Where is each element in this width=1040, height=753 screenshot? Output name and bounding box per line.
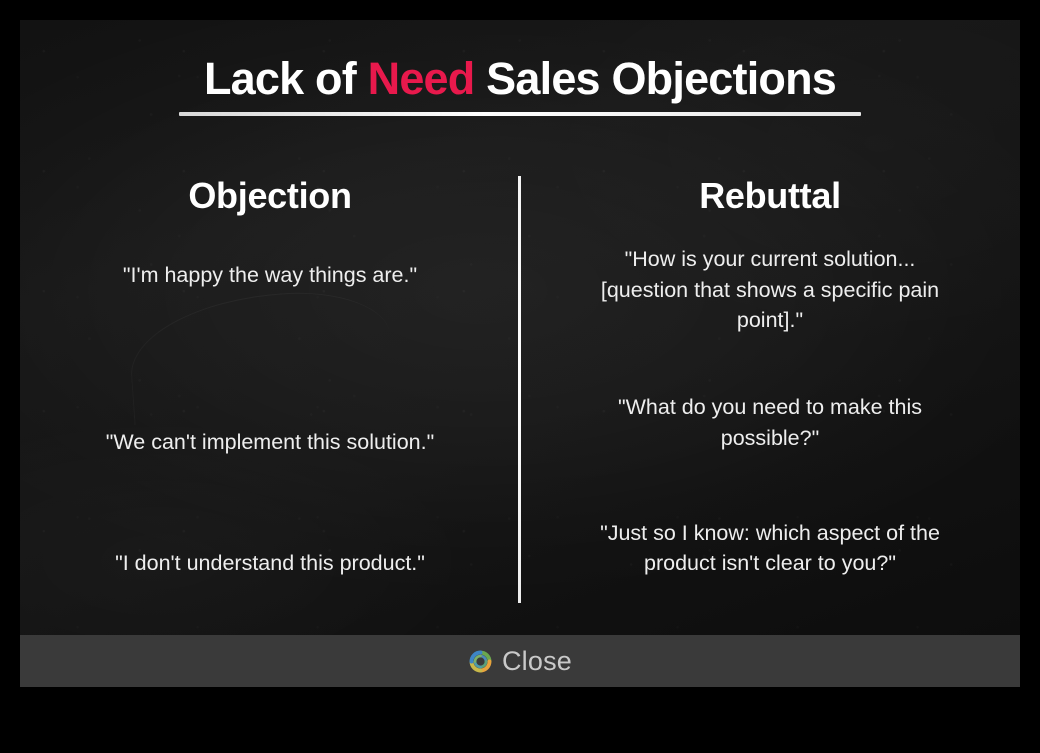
rebuttal-column: Rebuttal "How is your current solution..… bbox=[520, 160, 1020, 630]
close-button[interactable]: Close bbox=[468, 648, 572, 675]
table-row: "I'm happy the way things are." bbox=[20, 232, 520, 381]
title-text-accent: Need bbox=[368, 53, 475, 104]
title-text-before: Lack of bbox=[204, 53, 368, 104]
table-row: "I don't understand this product." bbox=[20, 503, 520, 630]
table-row: "We can't implement this solution." bbox=[20, 381, 520, 502]
app-logo-icon bbox=[468, 649, 493, 674]
table-row: "What do you need to make this possible?… bbox=[520, 363, 1020, 488]
title-block: Lack of Need Sales Objections bbox=[20, 54, 1020, 116]
rebuttal-cells: "How is your current solution... [questi… bbox=[520, 232, 1020, 630]
objection-column: Objection "I'm happy the way things are.… bbox=[20, 160, 520, 630]
objection-cells: "I'm happy the way things are." "We can'… bbox=[20, 232, 520, 630]
page-title: Lack of Need Sales Objections bbox=[20, 54, 1020, 104]
table-row: "Just so I know: which aspect of the pro… bbox=[520, 489, 1020, 630]
column-header-rebuttal: Rebuttal bbox=[520, 160, 1020, 232]
table-row: "How is your current solution... [questi… bbox=[520, 232, 1020, 363]
column-header-objection: Objection bbox=[20, 160, 520, 232]
viewer-toolbar: Close bbox=[20, 635, 1020, 687]
objection-rebuttal-table: Objection "I'm happy the way things are.… bbox=[20, 160, 1020, 630]
slide-canvas: Lack of Need Sales Objections Objection … bbox=[20, 20, 1020, 635]
image-viewer: Lack of Need Sales Objections Objection … bbox=[0, 0, 1040, 753]
title-text-after: Sales Objections bbox=[474, 53, 836, 104]
title-underline bbox=[179, 112, 861, 116]
close-button-label: Close bbox=[502, 648, 572, 675]
